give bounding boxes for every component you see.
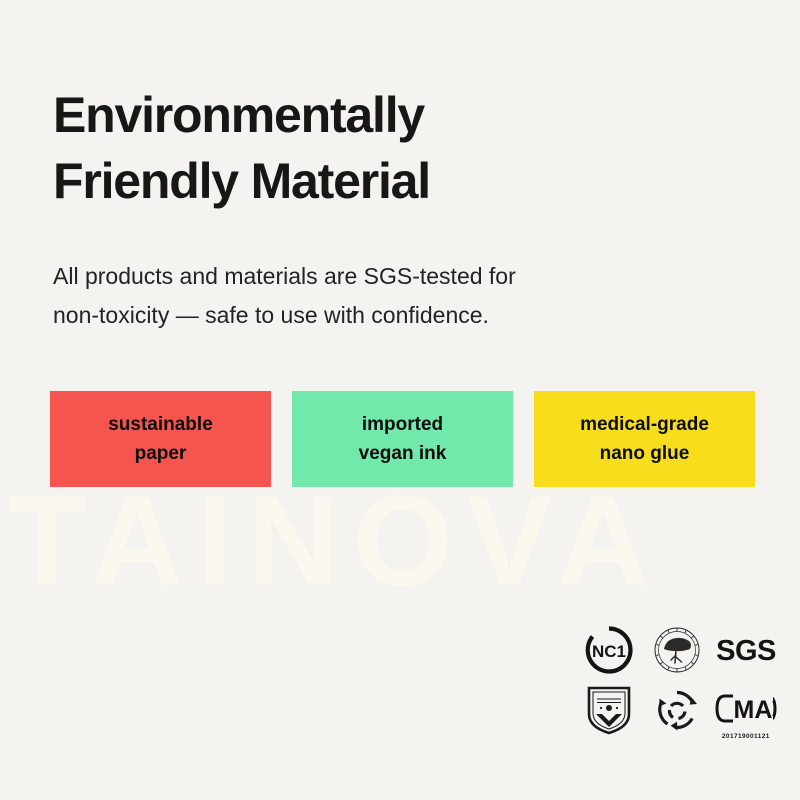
material-tag-row: sustainable paper imported vegan ink med…	[50, 391, 755, 487]
material-tag-label-line-2: paper	[135, 439, 187, 468]
page-title-line-1: Environmentally	[53, 82, 713, 148]
nc1-certification-icon: NC1	[578, 621, 640, 679]
page-subtitle: All products and materials are SGS-teste…	[53, 257, 653, 335]
sgs-certification-icon: SGS	[715, 621, 777, 679]
cma-certification-icon: MA 201719001121	[715, 681, 777, 739]
material-tag-label-line-2: vegan ink	[359, 439, 447, 468]
page-title: Environmentally Friendly Material	[53, 82, 713, 214]
material-tag-label-line-1: sustainable	[108, 410, 213, 439]
svg-text:SGS: SGS	[716, 635, 776, 667]
certification-badge-grid: NC1	[575, 620, 780, 740]
material-tag-label-line-1: medical-grade	[580, 410, 709, 439]
shield-chevron-certification-icon	[578, 681, 640, 739]
material-tag-label-line-2: nano glue	[600, 439, 690, 468]
recycling-arrows-icon	[646, 681, 708, 739]
svg-text:NC1: NC1	[592, 642, 626, 661]
material-tag-nano-glue: medical-grade nano glue	[534, 391, 755, 487]
page-subtitle-line-2: non-toxicity — safe to use with confiden…	[53, 296, 653, 335]
forest-tree-seal-icon	[646, 621, 708, 679]
page-title-line-2: Friendly Material	[53, 148, 713, 214]
material-tag-vegan-ink: imported vegan ink	[292, 391, 513, 487]
svg-text:MA: MA	[733, 696, 772, 724]
cma-certification-code: 201719001121	[722, 733, 770, 740]
page-subtitle-line-1: All products and materials are SGS-teste…	[53, 257, 653, 296]
poster-canvas: TAINOVA Environmentally Friendly Materia…	[0, 0, 800, 800]
material-tag-label-line-1: imported	[362, 410, 443, 439]
brand-watermark: TAINOVA	[8, 478, 798, 606]
material-tag-sustainable-paper: sustainable paper	[50, 391, 271, 487]
